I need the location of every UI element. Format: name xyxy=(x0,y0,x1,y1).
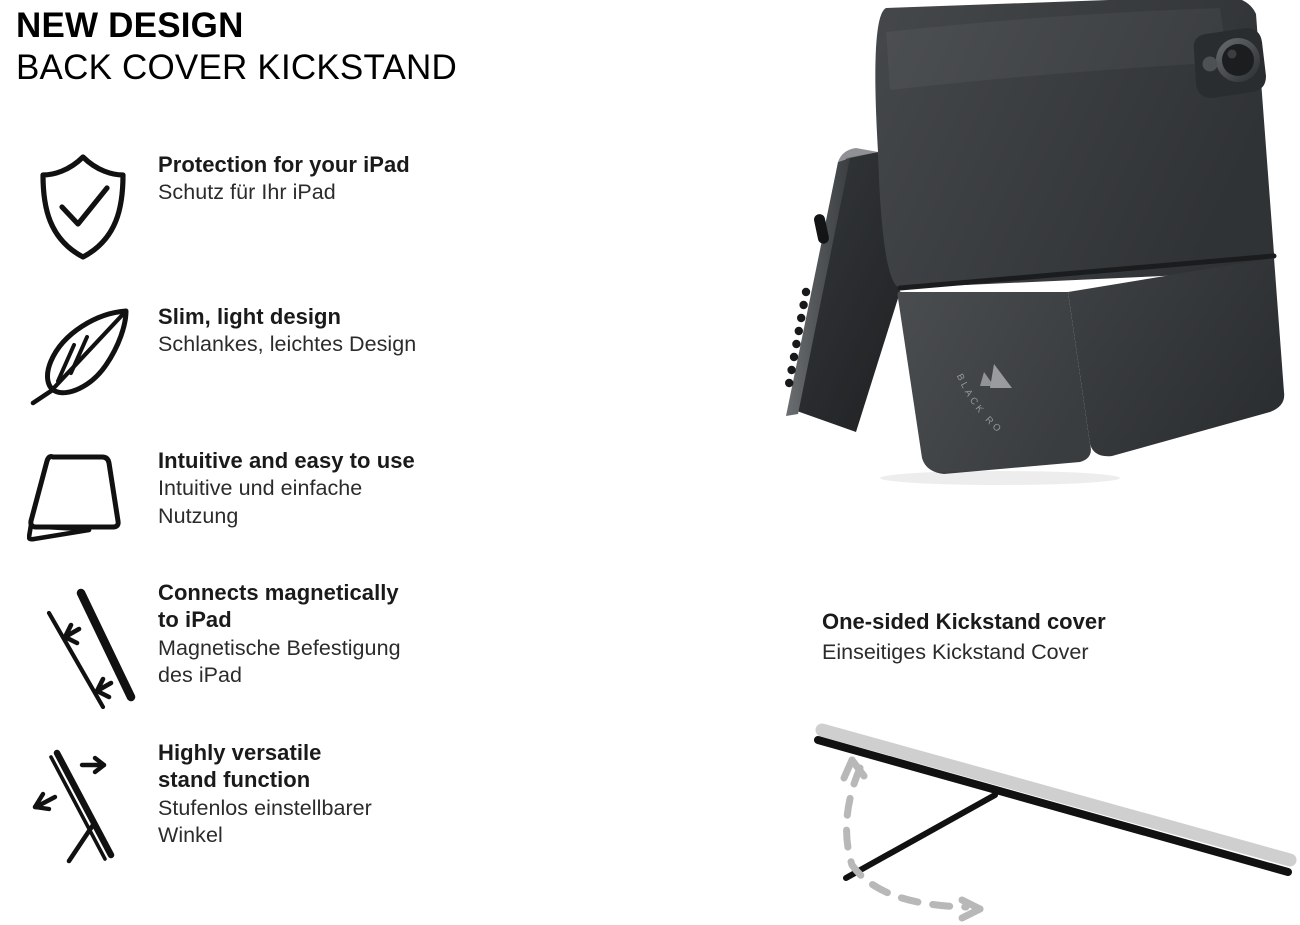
feature-title: Highly versatile stand function xyxy=(158,739,620,794)
ipad-with-kickstand-cover-photo: BLACK ROCK xyxy=(750,0,1300,487)
feature-title: Intuitive and easy to use xyxy=(158,447,620,474)
camera-lens-glint xyxy=(1228,50,1237,59)
feature-text: Protection for your iPad Schutz für Ihr … xyxy=(158,149,620,206)
feature-item: Highly versatile stand function Stufenlo… xyxy=(8,737,620,865)
kickstand-angle-diagram xyxy=(790,700,1300,925)
folded-cover-icon xyxy=(8,445,158,543)
product-column: BLACK ROCK One-sided Kickstand cover Ein… xyxy=(620,0,1300,925)
kickstand-caption-title: One-sided Kickstand cover xyxy=(822,608,1262,637)
feature-subtitle: Intuitive und einfache Nutzung xyxy=(158,475,620,529)
camera-lens xyxy=(1222,44,1254,76)
feature-list: Protection for your iPad Schutz für Ihr … xyxy=(8,149,620,865)
cover-lower-panel xyxy=(1068,258,1284,456)
feature-title: Protection for your iPad xyxy=(158,151,620,178)
feature-text: Intuitive and easy to use Intuitive und … xyxy=(158,445,620,529)
adjustable-stand-icon xyxy=(8,737,158,865)
shield-check-icon xyxy=(8,149,158,263)
magnetic-attach-icon xyxy=(8,577,158,709)
diagram-angle-arc xyxy=(847,768,966,907)
camera-module xyxy=(1194,28,1266,98)
diagram-cover-bar xyxy=(822,730,1290,860)
feature-subtitle: Magnetische Befestigung des iPad xyxy=(158,635,620,689)
feature-item: Intuitive and easy to use Intuitive und … xyxy=(8,445,620,543)
feature-item: Slim, light design Schlankes, leichtes D… xyxy=(8,301,620,407)
product-shadow xyxy=(880,471,1120,485)
diagram-kickstand-leg xyxy=(846,795,995,878)
camera-flash xyxy=(1203,57,1218,72)
kickstand-caption-subtitle: Einseitiges Kickstand Cover xyxy=(822,639,1262,667)
feature-text: Slim, light design Schlankes, leichtes D… xyxy=(158,301,620,358)
feature-subtitle: Stufenlos einstellbarer Winkel xyxy=(158,795,620,849)
feature-title: Connects magnetically to iPad xyxy=(158,579,620,634)
feature-subtitle: Schutz für Ihr iPad xyxy=(158,179,620,206)
kickstand-caption: One-sided Kickstand cover Einseitiges Ki… xyxy=(822,608,1262,667)
feature-text: Connects magnetically to iPad Magnetisch… xyxy=(158,577,620,689)
headline-sub: BACK COVER KICKSTAND xyxy=(16,47,620,89)
feature-subtitle: Schlankes, leichtes Design xyxy=(158,331,620,358)
features-column: NEW DESIGN BACK COVER KICKSTAND Protecti… xyxy=(0,0,620,925)
headline-main: NEW DESIGN xyxy=(16,6,620,45)
feature-item: Protection for your iPad Schutz für Ihr … xyxy=(8,149,620,263)
headline: NEW DESIGN BACK COVER KICKSTAND xyxy=(16,6,620,89)
feature-title: Slim, light design xyxy=(158,303,620,330)
product-feature-page: NEW DESIGN BACK COVER KICKSTAND Protecti… xyxy=(0,0,1300,925)
feature-text: Highly versatile stand function Stufenlo… xyxy=(158,737,620,849)
feature-item: Connects magnetically to iPad Magnetisch… xyxy=(8,577,620,709)
feather-icon xyxy=(8,301,158,407)
